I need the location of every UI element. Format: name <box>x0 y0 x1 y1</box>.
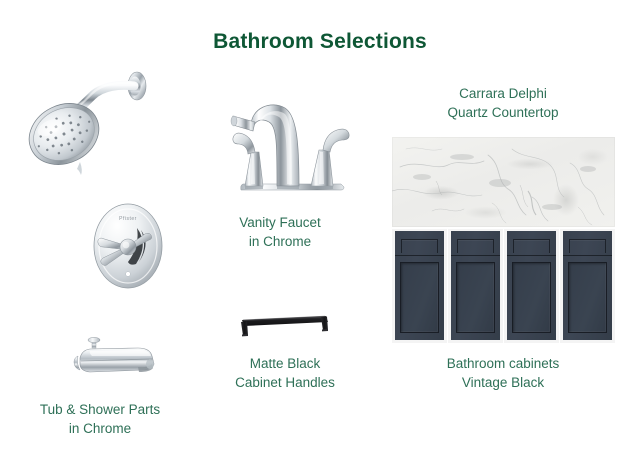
vanity-faucet-caption-line1: Vanity Faucet <box>239 215 321 230</box>
cabinet-handle-product-image <box>236 310 332 340</box>
quartz-countertop-swatch <box>392 137 615 227</box>
cabinet-panel-inset <box>512 262 550 334</box>
bathroom-cabinet-doors <box>392 229 615 343</box>
cabinet-panel-inset <box>456 262 494 334</box>
cabinets-caption-line2: Vintage Black <box>415 373 591 392</box>
shower-head-chrome-icon <box>22 62 154 182</box>
quartz-slab-swatch-icon <box>392 137 615 227</box>
cabinet-door <box>560 229 615 343</box>
svg-text:Pfister: Pfister <box>119 216 137 222</box>
cabinet-door <box>448 229 503 343</box>
cabinets-caption: Bathroom cabinets Vintage Black <box>415 354 591 392</box>
bar-pull-handle-matte-black-icon <box>236 310 332 340</box>
countertop-caption-line1: Carrara Delphi <box>459 86 547 101</box>
cabinet-handles-caption-line1: Matte Black <box>250 356 321 371</box>
shower-valve-trim-chrome-icon: Pfister <box>85 200 171 292</box>
cabinet-panel-inset <box>568 262 606 334</box>
tub-spout-product-image <box>66 334 170 384</box>
countertop-caption: Carrara Delphi Quartz Countertop <box>415 84 591 122</box>
cabinet-drawer-inset <box>569 239 606 253</box>
tub-spout-chrome-icon <box>66 334 170 384</box>
tub-shower-caption-line1: Tub & Shower Parts <box>40 402 160 417</box>
cabinet-panel-inset <box>400 262 438 334</box>
vanity-faucet-product-image <box>215 86 355 206</box>
cabinet-door-face <box>507 231 556 340</box>
cabinet-door <box>504 229 559 343</box>
cabinet-handles-caption: Matte Black Cabinet Handles <box>203 354 367 392</box>
selections-board: Bathroom Selections <box>0 0 640 452</box>
vanity-faucet-caption: Vanity Faucet in Chrome <box>198 213 362 251</box>
tub-shower-caption-line2: in Chrome <box>0 419 200 438</box>
page-title: Bathroom Selections <box>0 30 640 54</box>
shower-head-product-image <box>22 62 154 182</box>
vanity-faucet-caption-line2: in Chrome <box>198 232 362 251</box>
cabinet-door-face <box>451 231 500 340</box>
tub-shower-caption: Tub & Shower Parts in Chrome <box>0 400 200 438</box>
cabinet-door-face <box>395 231 444 340</box>
cabinet-handles-caption-line2: Cabinet Handles <box>203 373 367 392</box>
vanity-faucet-chrome-icon <box>215 86 355 206</box>
countertop-caption-line2: Quartz Countertop <box>415 103 591 122</box>
shower-valve-trim-product-image: Pfister <box>85 200 171 292</box>
cabinet-door <box>392 229 447 343</box>
cabinet-drawer-inset <box>513 239 550 253</box>
cabinet-drawer-inset <box>401 239 438 253</box>
cabinets-caption-line1: Bathroom cabinets <box>447 356 560 371</box>
cabinet-door-face <box>563 231 612 340</box>
cabinet-drawer-inset <box>457 239 494 253</box>
